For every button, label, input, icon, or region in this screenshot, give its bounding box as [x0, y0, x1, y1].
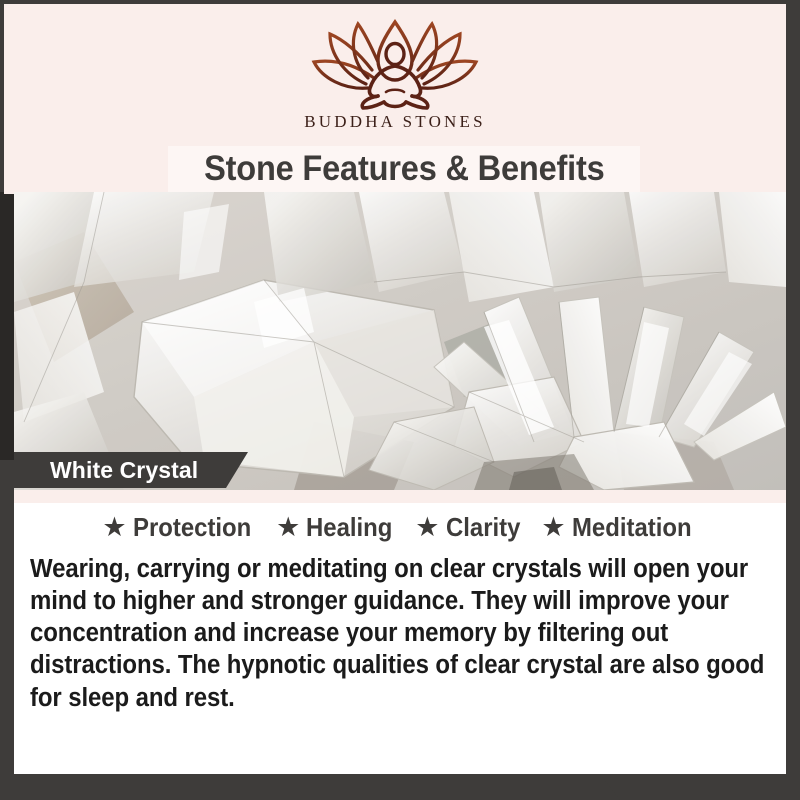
star-icon: ★ — [415, 514, 439, 541]
benefit-protection: ★ Protection — [102, 512, 261, 543]
brand-logo: BUDDHA STONES — [4, 18, 786, 132]
benefit-label: Meditation — [572, 512, 692, 543]
star-icon: ★ — [276, 514, 300, 541]
stone-name-label: White Crystal — [50, 457, 198, 484]
benefits-row: ★ Protection ★ Healing ★ Clarity ★ Medit… — [30, 512, 774, 543]
white-crystal-cluster-photo — [14, 192, 786, 490]
benefit-healing: ★ Healing — [276, 512, 400, 543]
benefit-label: Clarity — [446, 512, 520, 543]
stone-description: Wearing, carrying or meditating on clear… — [30, 553, 771, 714]
crystal-photo-illustration — [14, 192, 786, 490]
frame-band-bottom-left — [0, 774, 800, 800]
lotus-meditation-icon — [300, 18, 490, 110]
stone-name-badge: White Crystal — [14, 452, 248, 488]
photo-underline-strip — [14, 490, 786, 503]
frame-band-left-lower — [0, 460, 14, 780]
stone-benefits-infographic: BUDDHA STONES Stone Features & Benefits — [0, 0, 800, 800]
title-plate: Stone Features & Benefits — [168, 146, 640, 192]
benefit-clarity: ★ Clarity — [415, 512, 526, 543]
star-icon: ★ — [102, 514, 126, 541]
benefit-label: Healing — [306, 512, 392, 543]
frame-band-left-upper — [0, 192, 14, 462]
star-icon: ★ — [541, 514, 565, 541]
header-section: BUDDHA STONES Stone Features & Benefits — [4, 4, 786, 194]
frame-band-right — [786, 0, 800, 790]
benefit-meditation: ★ Meditation — [541, 512, 701, 543]
page-title: Stone Features & Benefits — [204, 149, 605, 189]
brand-name: BUDDHA STONES — [304, 112, 486, 132]
content-section: ★ Protection ★ Healing ★ Clarity ★ Medit… — [14, 503, 786, 774]
benefit-label: Protection — [133, 512, 251, 543]
